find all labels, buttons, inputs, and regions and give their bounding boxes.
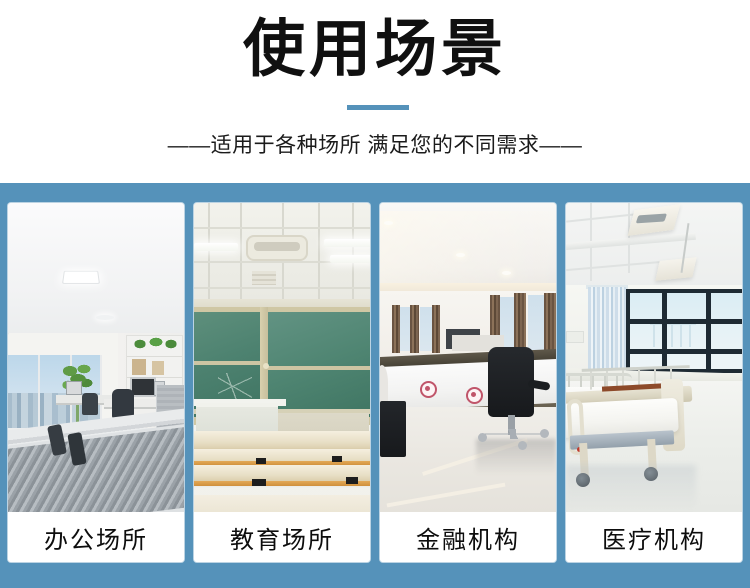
window-curtain [544,293,556,353]
scenario-band: 办公场所 [0,183,750,588]
fluorescent-tube-light-icon [194,243,238,251]
ceiling-grid-line [194,287,370,289]
desk-item [332,456,342,462]
scenario-card-list: 办公场所 [8,203,742,562]
window-mullion [626,349,742,354]
chalkboard-rail [194,361,260,365]
fluorescent-tube-light-icon [324,239,370,247]
scenario-label-office: 办公场所 [8,512,184,562]
chair-caster [478,433,487,442]
hospital-photo [566,203,742,512]
privacy-curtain [588,287,626,375]
recessed-spotlight-icon [456,253,465,257]
desk-item [346,477,358,484]
fluorescent-tube-light-icon [330,255,370,263]
window-mullion [626,319,742,324]
desk-item [256,458,266,464]
window-curtain [432,305,440,353]
monitor-icon [66,381,82,395]
chalkboard-rail [268,366,370,370]
classroom-floor [194,495,370,512]
window-frame [626,289,742,373]
scenario-card-education[interactable]: 教育场所 [194,203,370,562]
desk-item [252,479,266,486]
shelf-plant-icon [132,337,178,349]
scenario-label-education: 教育场所 [194,512,370,562]
desk-front-edge [194,481,370,486]
classroom-photo [194,203,370,512]
ceiling-grid-line [208,203,210,299]
page-title: 使用场景 [0,10,750,90]
window-curtain [514,293,526,353]
cove-lighting [380,211,556,292]
bank-office-chair [488,347,534,417]
counter-emblem-icon [466,387,483,404]
office-photo [8,203,184,512]
ceiling-grid-line [240,203,242,299]
bank-photo [380,203,556,512]
scenario-label-finance: 金融机构 [380,512,556,562]
student-desk-row [194,431,370,451]
office-chair [82,393,98,415]
ceiling-grid-line [352,203,354,299]
window-curtain [392,305,400,353]
foreground-cabinet [380,401,406,457]
chalkboard-knob [263,363,269,369]
scenario-card-office[interactable]: 办公场所 [8,203,184,562]
ceiling-air-vent-icon [246,235,308,261]
wall-mounted-panel [566,331,584,343]
shelf-box [132,359,146,375]
ceiling-downlight-icon [96,315,114,320]
floor-reflection [476,439,556,475]
window-mullion [662,289,667,373]
ceiling-grid-line [318,203,320,299]
promo-page: 使用场景 ——适用于各种场所 满足您的不同需求—— [0,0,750,588]
recessed-spotlight-icon [384,221,393,225]
counter-emblem-icon [420,381,437,398]
shelf-box [152,361,164,375]
window-mullion [38,355,40,433]
page-header: 使用场景 ——适用于各种场所 满足您的不同需求—— [0,0,750,183]
ceiling-diffuser-icon [252,271,276,285]
floor-reflection [566,465,696,509]
scenario-card-medical[interactable]: 医疗机构 [566,203,742,562]
title-divider [347,105,409,110]
ceiling-panel-light-icon [62,271,100,284]
chair-caster [540,429,549,438]
scenario-card-finance[interactable]: 金融机构 [380,203,556,562]
chair-base [480,429,546,439]
window-mullion [706,289,711,373]
chalk-writing [218,373,252,399]
recessed-spotlight-icon [502,271,511,275]
ceiling-grid-line [194,227,370,229]
scenario-label-medical: 医疗机构 [566,512,742,562]
chair-caster [518,441,527,450]
bank-window [420,307,432,351]
window-curtain [410,305,419,353]
page-subtitle: ——适用于各种场所 满足您的不同需求—— [0,132,750,160]
